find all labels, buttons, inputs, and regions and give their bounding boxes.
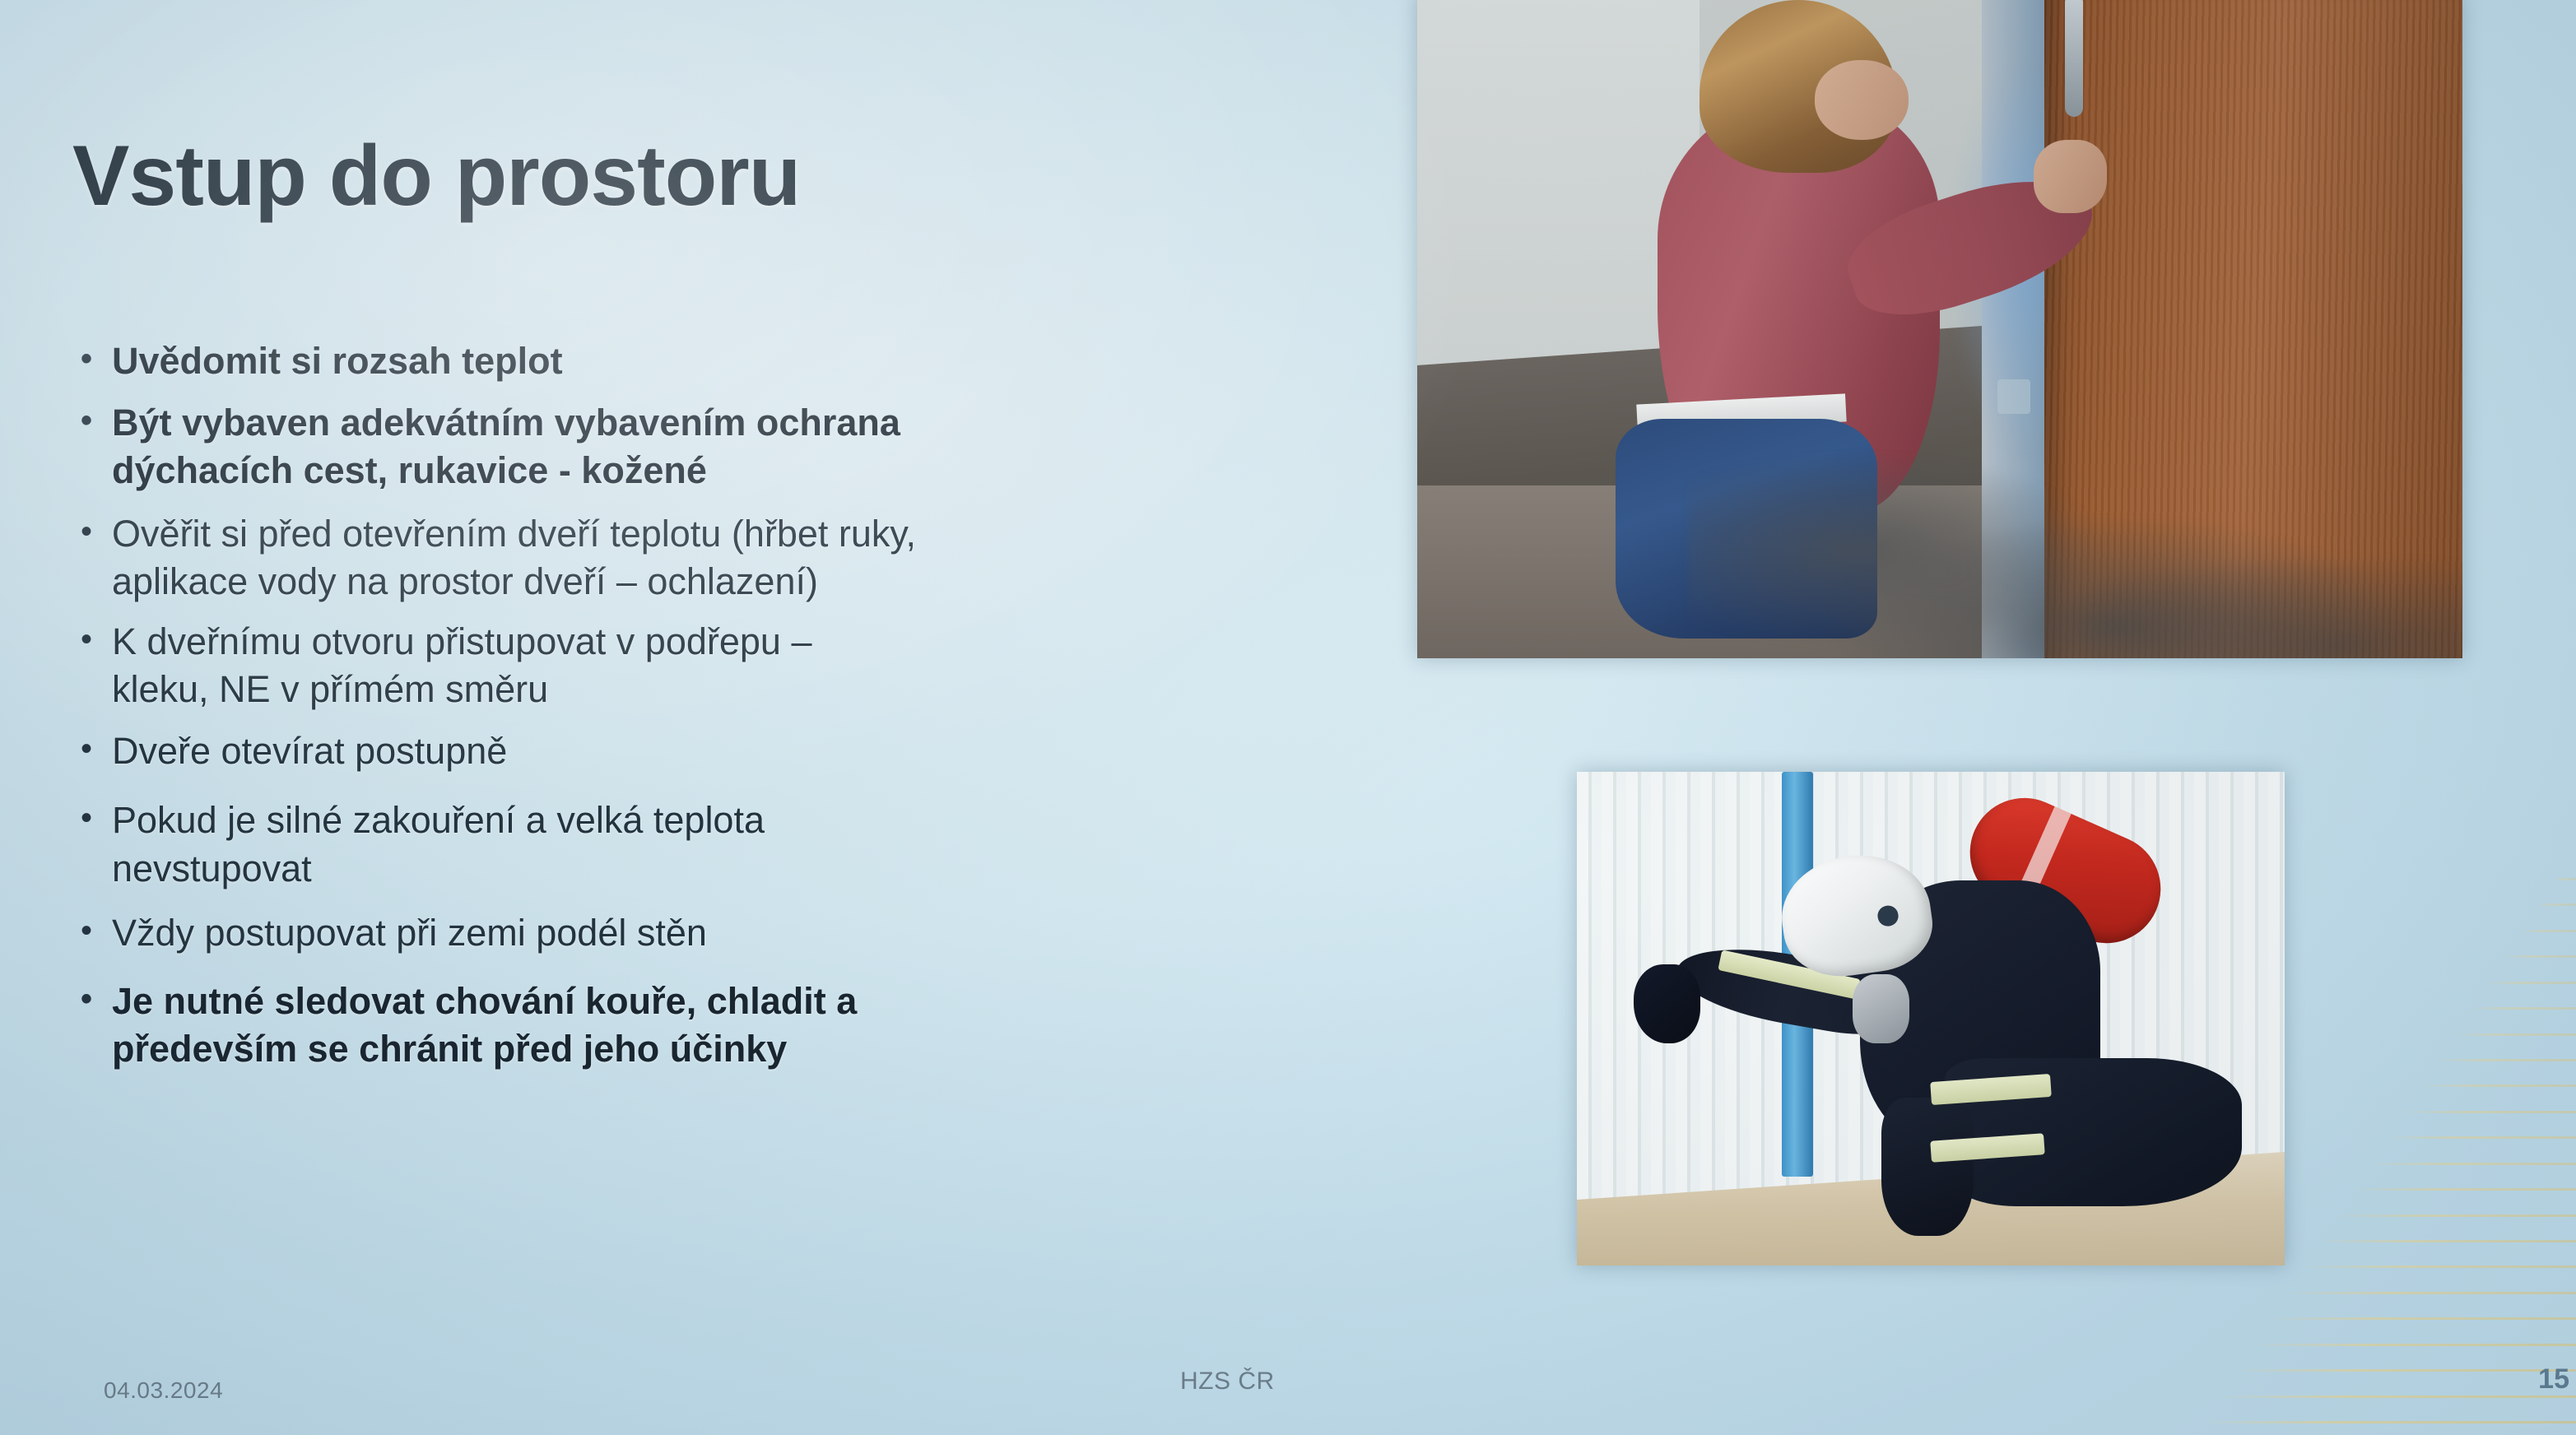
decoration-line [2522,930,2576,932]
decoration-line [2239,1369,2576,1372]
bullet-list: • Uvědomit si rozsah teplot • Být vybave… [74,337,1424,1082]
decoration-line [2355,1188,2576,1191]
photo-firefighter-glove [1634,964,1701,1043]
list-item-text: Být vybaven adekvátním vybavením ochrana… [112,399,1424,495]
slide-title: Vstup do prostoru [72,128,800,225]
bullet-dot-icon: • [74,796,112,839]
bullet-dot-icon: • [74,909,112,952]
list-item: • Pokud je silné zakouření a velká teplo… [74,796,1424,893]
list-item: • Je nutné sledovat chování kouře, chlad… [74,978,1424,1074]
firefighter-kneeling-photo [1577,772,2285,1265]
decoration-line [2455,1033,2576,1036]
list-item-text: Vždy postupovat při zemi podél stěn [112,909,1424,958]
decoration-line [2439,1059,2576,1061]
photo-door-handle [2065,0,2083,117]
list-item-text: Je nutné sledovat chování kouře, chladit… [112,978,1424,1074]
photo-breathing-mask [1853,974,1909,1043]
bullet-dot-icon: • [74,510,112,553]
bullet-dot-icon: • [74,399,112,442]
decoration-line [2488,982,2576,984]
decoration-line [2323,1240,2576,1242]
decoration-line [2206,1421,2576,1423]
woman-checking-door-photo [1417,0,2462,658]
photo-firefighter-shin [1881,1098,1974,1236]
bullet-dot-icon: • [74,727,112,770]
list-item-text: Pokud je silné zakouření a velká teplota… [112,796,1424,893]
decoration-line [2406,1111,2576,1113]
decoration-line [2422,1084,2576,1087]
list-item: • K dveřnímu otvoru přistupovat v podřep… [74,618,1424,714]
bullet-dot-icon: • [74,337,112,380]
decoration-line [2290,1292,2576,1294]
decoration-line [2339,1214,2576,1217]
slide-page-number: 15 [2538,1363,2569,1396]
decoration-line [2256,1344,2576,1346]
list-item: • Ověřit si před otevřením dveří teplotu… [74,510,1424,606]
list-item-text: Uvědomit si rozsah teplot [112,337,1424,386]
bullet-dot-icon: • [74,618,112,661]
decoration-line [2538,903,2576,906]
presentation-slide: Vstup do prostoru • Uvědomit si rozsah t… [0,0,2576,1435]
decoration-line [2388,1136,2576,1139]
photo-back-wall [1417,0,1700,406]
decoration-line [2372,1163,2576,1165]
decoration-line [2471,1007,2576,1010]
list-item: • Vždy postupovat při zemi podél stěn [74,909,1424,958]
list-item: • Uvědomit si rozsah teplot [74,337,1424,386]
bullet-dot-icon: • [74,978,112,1020]
footer-date: 04.03.2024 [104,1377,223,1404]
decoration-line [2555,878,2576,880]
decoration-line [2306,1265,2576,1268]
list-item-text: Dveře otevírat postupně [112,727,1424,776]
photo-person-face [1815,60,1909,140]
list-item-text: Ověřit si před otevřením dveří teplotu (… [112,510,1424,606]
decoration-line [2223,1396,2576,1398]
list-item: • Být vybaven adekvátním vybavením ochra… [74,399,1424,495]
decoration-line [2272,1317,2576,1320]
list-item-text: K dveřnímu otvoru přistupovat v podřepu … [112,618,1424,714]
footer-organization: HZS ČR [1180,1368,1275,1396]
photo-smoke [1689,352,2462,658]
decoration-line [2505,955,2576,958]
list-item: • Dveře otevírat postupně [74,727,1424,776]
photo-person-hand [2034,140,2107,213]
